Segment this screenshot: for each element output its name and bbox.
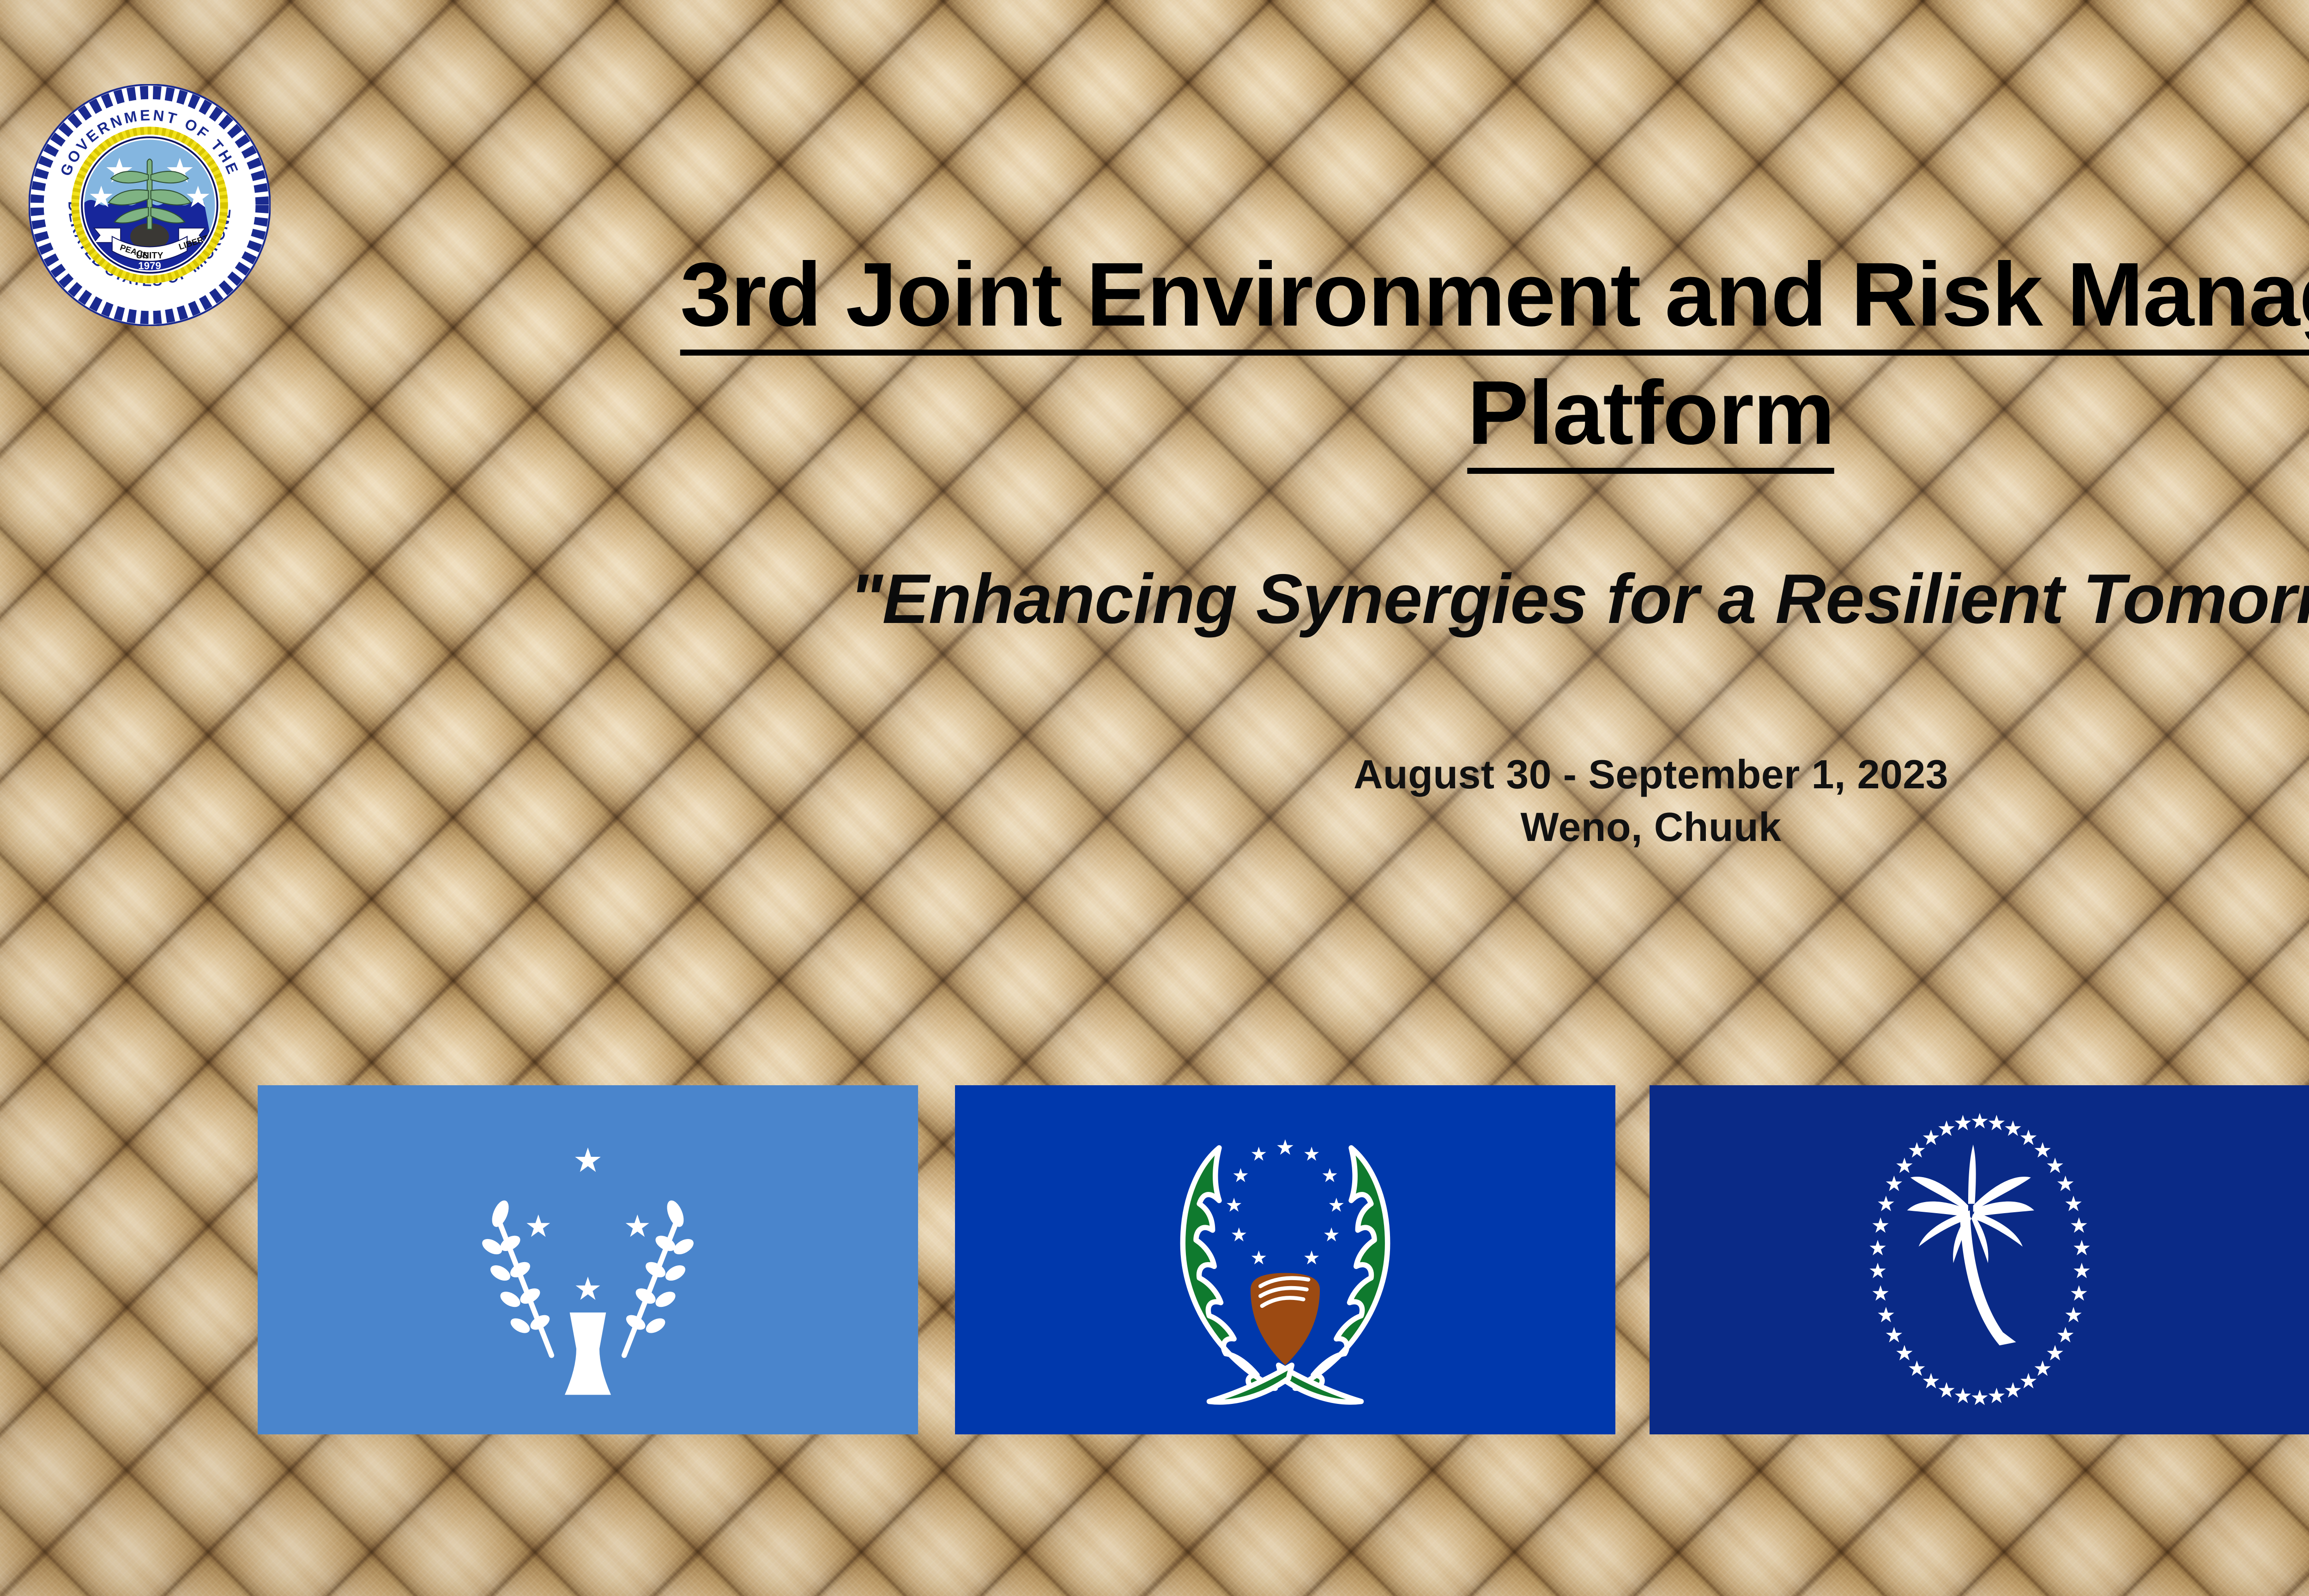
flag-kosrae xyxy=(258,1085,918,1434)
chuuk-field xyxy=(1650,1085,2309,1434)
flag-chuuk xyxy=(1650,1085,2309,1434)
flag-pohnpei xyxy=(955,1085,1615,1434)
seal-motto-unity: UNITY xyxy=(136,250,163,260)
event-location: Weno, Chuuk xyxy=(277,801,2309,853)
event-date: August 30 - September 1, 2023 xyxy=(277,748,2309,801)
fsm-government-seal-icon: GOVERNMENT OF THE FEDERATED STATES OF MI… xyxy=(29,84,271,326)
event-details: August 30 - September 1, 2023 Weno, Chuu… xyxy=(277,748,2309,854)
title-line-2: Platform xyxy=(1468,358,1835,474)
banner-content: GOVERNMENT OF THE FEDERATED STATES OF MI… xyxy=(0,0,2309,1596)
title-line-1: 3rd Joint Environment and Risk Managemen… xyxy=(680,240,2309,356)
banner-title: 3rd Joint Environment and Risk Managemen… xyxy=(277,240,2309,474)
state-flags-row xyxy=(0,1085,2309,1450)
seal-year: 1979 xyxy=(138,260,161,272)
banner-tagline: "Enhancing Synergies for a Resilient Tom… xyxy=(277,559,2309,640)
